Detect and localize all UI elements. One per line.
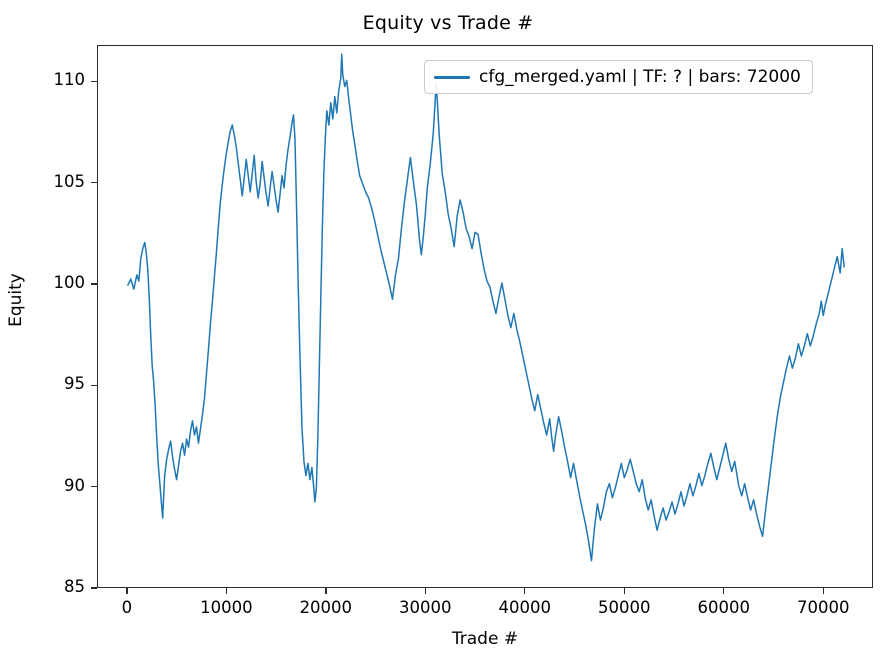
legend-color-swatch — [434, 76, 470, 79]
y-tick-label: 85 — [11, 577, 85, 596]
y-tick-label: 95 — [11, 374, 85, 393]
legend-entry-label: cfg_merged.yaml | TF: ? | bars: 72000 — [479, 67, 801, 87]
x-tick-mark — [126, 588, 127, 594]
plot-area — [97, 45, 873, 588]
x-tick-label: 50000 — [598, 598, 651, 617]
x-tick-label: 10000 — [200, 598, 253, 617]
x-axis-label: Trade # — [97, 629, 873, 649]
page-title: Equity vs Trade # — [0, 12, 896, 34]
y-tick-mark — [91, 81, 97, 82]
y-tick-label: 100 — [11, 273, 85, 292]
x-tick-label: 0 — [122, 598, 133, 617]
y-tick-mark — [91, 486, 97, 487]
y-tick-label: 110 — [11, 70, 85, 89]
x-tick-mark — [624, 588, 625, 594]
x-tick-label: 40000 — [499, 598, 552, 617]
x-tick-mark — [823, 588, 824, 594]
y-tick-mark — [91, 385, 97, 386]
x-tick-mark — [226, 588, 227, 594]
x-tick-label: 70000 — [797, 598, 850, 617]
equity-line-series — [98, 46, 874, 589]
equity-curve — [128, 54, 844, 561]
x-tick-mark — [524, 588, 525, 594]
x-tick-mark — [723, 588, 724, 594]
x-tick-label: 60000 — [698, 598, 751, 617]
y-tick-mark — [91, 283, 97, 284]
x-tick-mark — [325, 588, 326, 594]
legend[interactable]: cfg_merged.yaml | TF: ? | bars: 72000 — [424, 60, 813, 94]
y-axis-label: Equity — [6, 260, 26, 340]
x-tick-label: 20000 — [300, 598, 353, 617]
x-tick-label: 30000 — [399, 598, 452, 617]
x-tick-mark — [425, 588, 426, 594]
y-tick-mark — [91, 182, 97, 183]
matplotlib-figure: Equity vs Trade # Equity Trade # 8590951… — [0, 0, 896, 672]
y-tick-label: 90 — [11, 476, 85, 495]
y-tick-label: 105 — [11, 172, 85, 191]
y-tick-mark — [91, 587, 97, 588]
